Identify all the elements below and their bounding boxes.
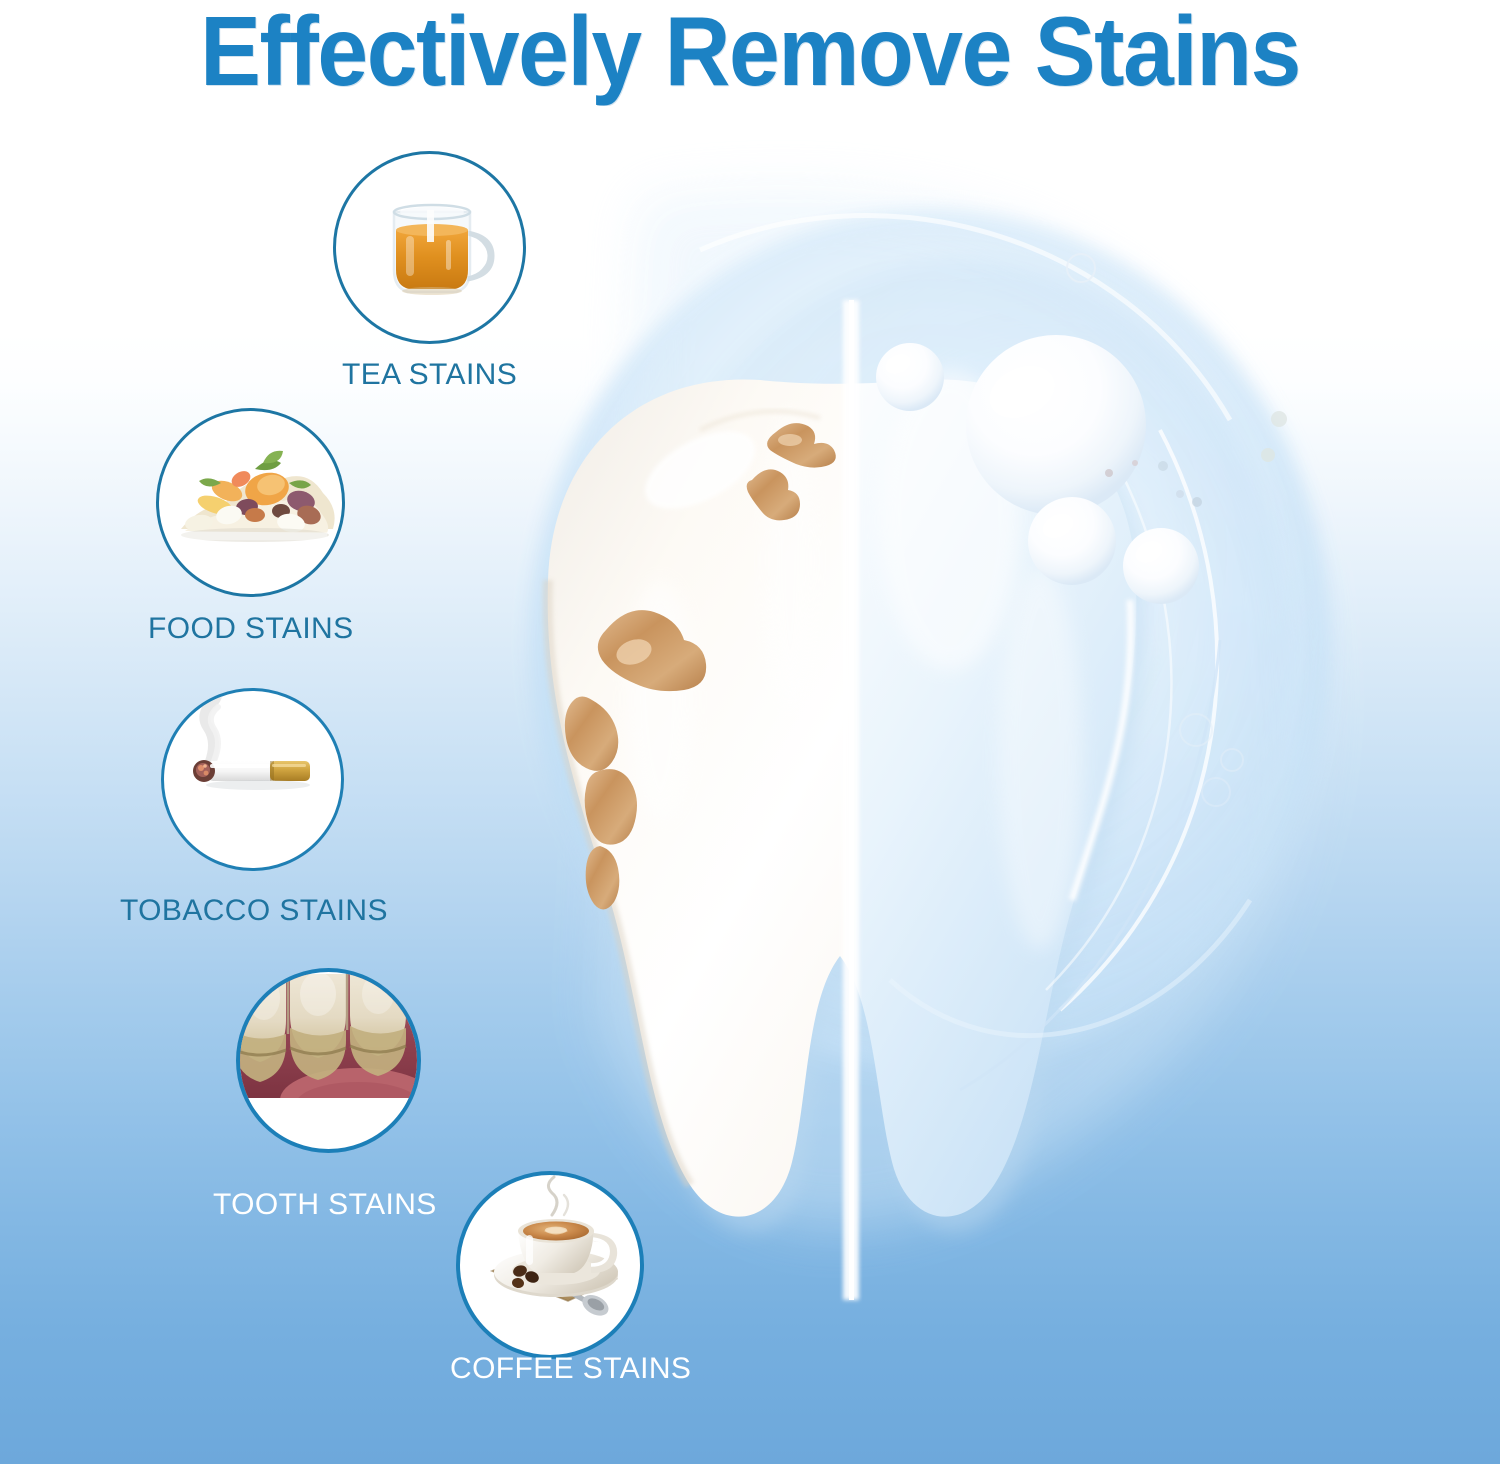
- tea-stains-label: TEA STAINS: [342, 358, 517, 392]
- food-pile-icon: [159, 411, 345, 597]
- lit-cigarette-icon: [164, 691, 344, 871]
- stain-patches: [565, 423, 836, 909]
- tobacco-stains-label: TOBACCO STAINS: [120, 894, 388, 928]
- tooth-stains-circle[interactable]: [236, 968, 421, 1153]
- tooth-stains-label: TOOTH STAINS: [213, 1188, 437, 1222]
- food-stains-circle[interactable]: [156, 408, 345, 597]
- tea-mug-icon: [336, 154, 526, 344]
- shine-arcs: [700, 215, 1250, 1090]
- page-title: Effectively Remove Stains: [53, 2, 1448, 102]
- tea-stains-circle[interactable]: [333, 151, 526, 344]
- coffee-cup-icon: [460, 1175, 644, 1359]
- coffee-stains-label: COFFEE STAINS: [450, 1352, 691, 1386]
- stained-teeth-icon: [240, 972, 421, 1153]
- food-stains-label: FOOD STAINS: [148, 612, 354, 646]
- coffee-stains-circle[interactable]: [456, 1171, 644, 1359]
- tooth-graphic: [548, 300, 1147, 1300]
- product-infographic: Effectively Remove Stains: [0, 0, 1500, 1464]
- tobacco-stains-circle[interactable]: [161, 688, 344, 871]
- background-blob: [530, 190, 1330, 1229]
- cleansing-bubbles: [876, 254, 1287, 806]
